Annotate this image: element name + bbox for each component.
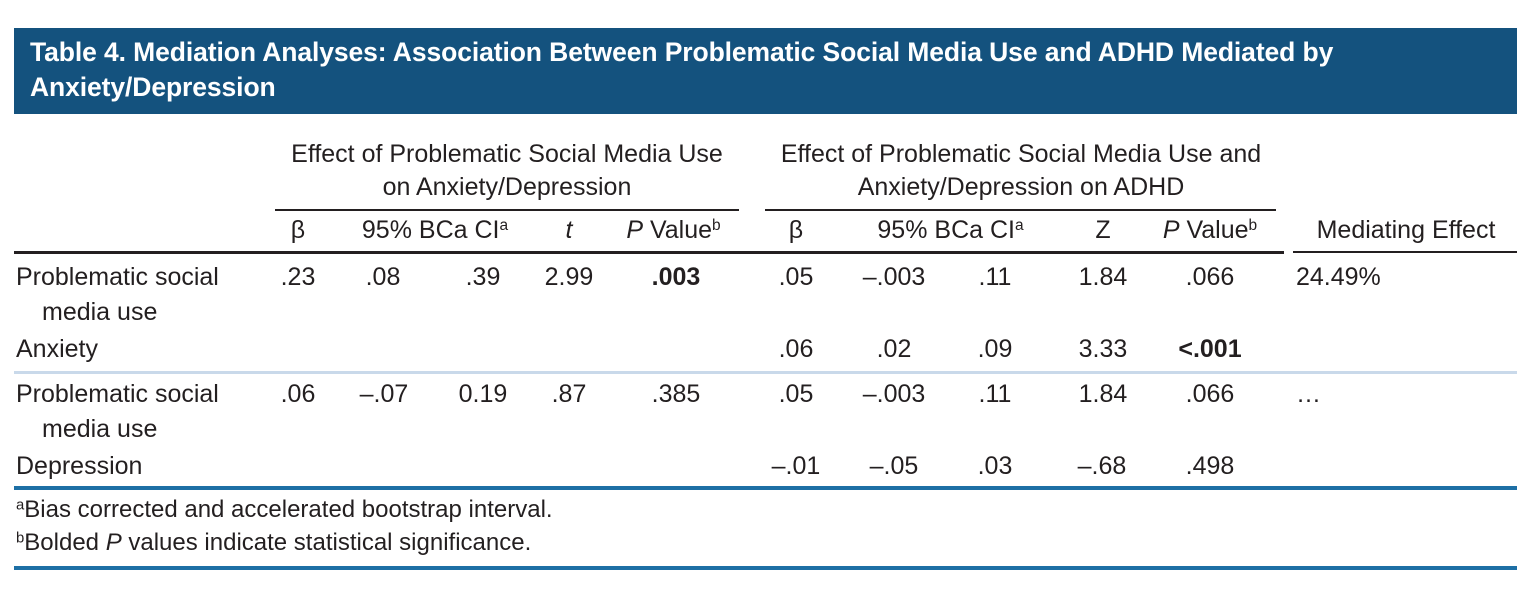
row-1-g2-beta: .05 (768, 261, 824, 294)
row-1-g1-p: .003 (634, 261, 718, 294)
footnote-b-text-italic: P (106, 529, 122, 556)
row-3-g1-stat: .87 (540, 378, 598, 411)
row-1-label-line1: Problematic social (16, 263, 219, 291)
group-1-rule (275, 209, 739, 211)
row-3-g2-stat: 1.84 (1066, 378, 1140, 411)
row-3-label-line2: media use (16, 412, 276, 447)
row-2-g2-p: <.001 (1160, 333, 1260, 366)
row-1-g2-p: .066 (1164, 261, 1256, 294)
mediating-effect-rule (1293, 251, 1517, 253)
row-3-g2-ci-hi: .11 (962, 378, 1028, 411)
row-4-g2-beta: –.01 (760, 450, 832, 483)
row-1-mediating-effect: 24.49% (1296, 261, 1516, 294)
row-2-g2-beta: .06 (768, 333, 824, 366)
group-header-1: Effect of Problematic Social Media Use o… (275, 138, 739, 204)
row-3-g2-beta: .05 (768, 378, 824, 411)
col-header-g2-p-italic: P (1163, 216, 1180, 244)
col-header-g2-p-text: Value (1180, 216, 1249, 244)
col-header-g1-ci: 95% BCa CIa (330, 215, 540, 245)
row-1-g2-ci-lo: –.003 (838, 261, 950, 294)
col-header-g2-ci-text: 95% BCa CI (877, 216, 1015, 244)
footnote-a: aBias corrected and accelerated bootstra… (16, 493, 553, 526)
row-3-label-line1: Problematic social (16, 380, 219, 408)
row-1-g2-stat: 1.84 (1066, 261, 1140, 294)
group-2-rule (765, 209, 1276, 211)
col-header-g1-p: P Valueb (608, 215, 739, 245)
col-header-g1-stat: t (540, 215, 598, 245)
row-4-g2-p: .498 (1164, 450, 1256, 483)
row-3-g1-p: .385 (632, 378, 720, 411)
row-4-label-line1: Depression (16, 452, 142, 480)
row-2-g2-ci-hi: .09 (962, 333, 1028, 366)
row-4-g2-ci-hi: .03 (962, 450, 1028, 483)
row-3-g1-ci-hi: 0.19 (440, 378, 526, 411)
col-header-g2-p: P Valueb (1144, 215, 1276, 245)
row-1-g1-ci-lo: .08 (350, 261, 416, 294)
footnote-marker-a-2: a (1015, 217, 1024, 234)
table-row-label-3: Problematic social media use (16, 377, 276, 447)
footnote-marker-a: a (499, 217, 508, 234)
footnote-top-rule (14, 486, 1517, 490)
footnote-b-text-post: values indicate statistical significance… (122, 529, 532, 556)
group-header-2: Effect of Problematic Social Media Use a… (765, 138, 1277, 204)
col-header-g1-p-text: Value (643, 216, 712, 244)
row-2-label-line1: Anxiety (16, 335, 98, 363)
page-title: Table 4. Mediation Analyses: Association… (30, 35, 1501, 105)
col-header-g1-ci-text: 95% BCa CI (362, 216, 500, 244)
footnote-marker-b-2: b (1249, 217, 1258, 234)
table-row-label-2: Anxiety (16, 332, 276, 367)
row-3-mediating-effect: … (1296, 378, 1516, 411)
footnote-marker-b: b (712, 217, 721, 234)
row-1-g2-ci-hi: .11 (962, 261, 1028, 294)
header-bottom-rule (14, 251, 1284, 254)
row-1-g1-beta: .23 (272, 261, 324, 294)
row-1-g1-ci-hi: .39 (450, 261, 516, 294)
col-header-g2-stat: Z (1072, 215, 1134, 245)
row-1-label-line2: media use (16, 295, 276, 330)
row-3-g2-p: .066 (1164, 378, 1256, 411)
col-header-g1-p-italic: P (626, 216, 643, 244)
row-4-g2-ci-lo: –.05 (838, 450, 950, 483)
col-header-g2-beta: β (768, 215, 824, 245)
col-header-mediating-effect: Mediating Effect (1295, 215, 1517, 245)
row-3-g1-beta: .06 (272, 378, 324, 411)
row-3-g1-ci-lo: –.07 (344, 378, 424, 411)
row-1-g1-stat: 2.99 (534, 261, 604, 294)
table-title-banner: Table 4. Mediation Analyses: Association… (14, 28, 1517, 114)
col-header-g2-ci: 95% BCa CIa (833, 215, 1068, 245)
table-bottom-rule (14, 566, 1517, 570)
footnote-b-text-pre: Bolded (24, 529, 105, 556)
table-figure: Table 4. Mediation Analyses: Association… (0, 0, 1536, 612)
block-divider-rule (14, 371, 1517, 374)
table-row-label-4: Depression (16, 449, 276, 484)
table-row-label-1: Problematic social media use (16, 260, 276, 330)
footnote-b: bBolded P values indicate statistical si… (16, 526, 531, 559)
row-2-g2-ci-lo: .02 (838, 333, 950, 366)
row-3-g2-ci-lo: –.003 (838, 378, 950, 411)
footnote-a-text: Bias corrected and accelerated bootstrap… (24, 496, 552, 523)
row-2-g2-stat: 3.33 (1066, 333, 1140, 366)
col-header-g1-beta: β (272, 215, 324, 245)
row-4-g2-stat: –.68 (1058, 450, 1146, 483)
